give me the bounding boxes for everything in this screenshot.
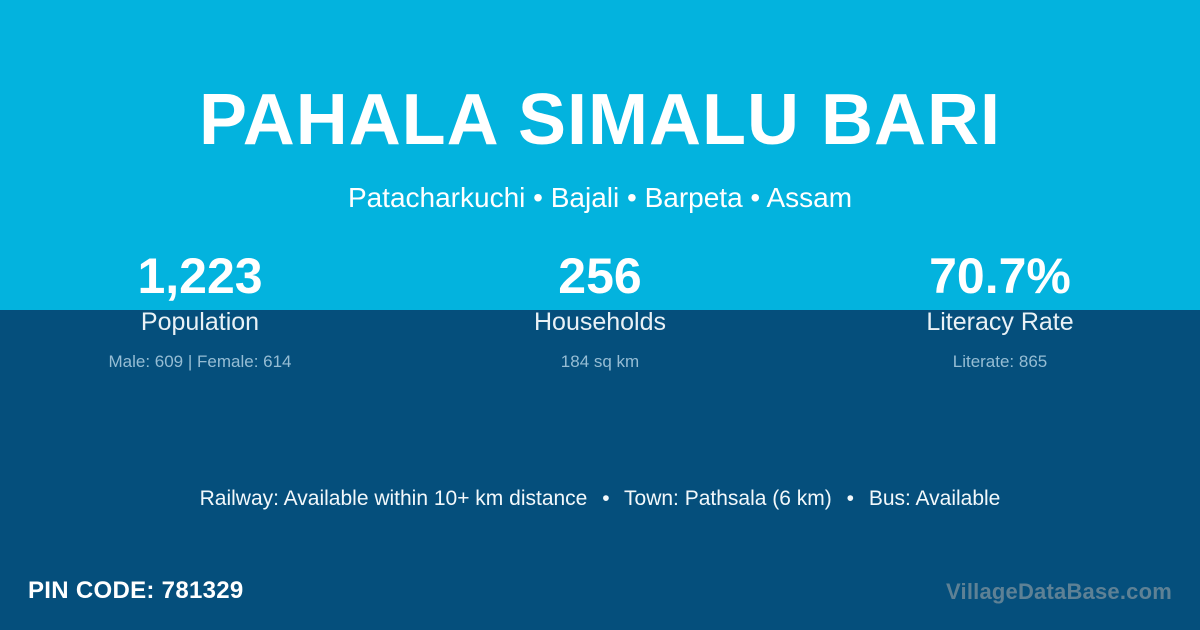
pin-code: PIN CODE: 781329 — [28, 575, 244, 606]
stats-row: 1,223 Population Male: 609 | Female: 614… — [0, 248, 1200, 373]
location-breadcrumb: Patacharkuchi • Bajali • Barpeta • Assam — [0, 183, 1200, 214]
stat-households-label: Households — [400, 307, 800, 338]
stat-households-value: 256 — [400, 248, 800, 304]
stat-households-sub: 184 sq km — [400, 351, 800, 373]
village-info-card: PAHALA SIMALU BARI Patacharkuchi • Bajal… — [0, 0, 1200, 630]
stat-literacy-value: 70.7% — [800, 248, 1200, 304]
amenity-town: Town: Pathsala (6 km) — [624, 487, 832, 510]
amenities-row: Railway: Available within 10+ km distanc… — [0, 485, 1200, 512]
amenity-railway: Railway: Available within 10+ km distanc… — [200, 487, 588, 510]
stat-population-label: Population — [0, 307, 400, 338]
stat-population: 1,223 Population Male: 609 | Female: 614 — [0, 248, 400, 373]
page-title: PAHALA SIMALU BARI — [0, 84, 1200, 156]
stat-literacy-sub: Literate: 865 — [800, 351, 1200, 373]
brand-watermark: VillageDataBase.com — [946, 578, 1172, 607]
amenity-separator-2: • — [838, 487, 863, 510]
stat-literacy: 70.7% Literacy Rate Literate: 865 — [800, 248, 1200, 373]
stat-literacy-label: Literacy Rate — [800, 307, 1200, 338]
stat-population-value: 1,223 — [0, 248, 400, 304]
stat-households: 256 Households 184 sq km — [400, 248, 800, 373]
stat-population-sub: Male: 609 | Female: 614 — [0, 351, 400, 373]
amenity-separator-1: • — [593, 487, 618, 510]
amenity-bus: Bus: Available — [869, 487, 1001, 510]
